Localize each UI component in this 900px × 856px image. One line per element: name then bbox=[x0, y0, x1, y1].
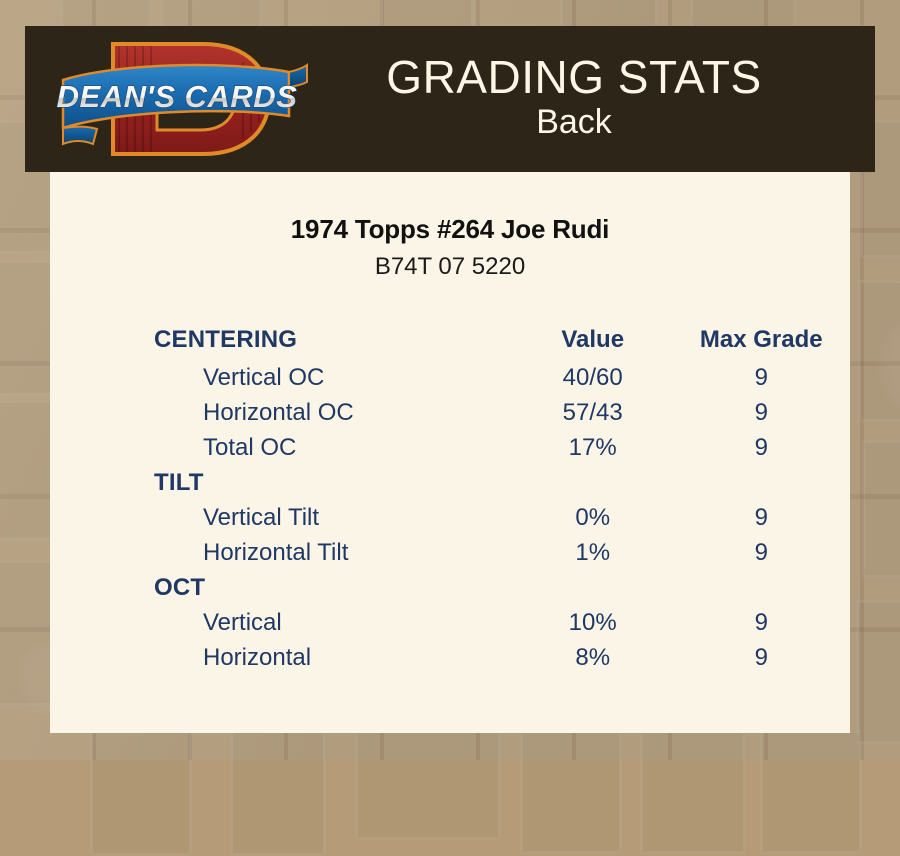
stat-max-grade: 9 bbox=[673, 360, 850, 395]
grading-stats-table: CENTERINGValueMax GradeVertical OC40/609… bbox=[50, 319, 850, 675]
stat-label: Vertical OC bbox=[50, 360, 513, 395]
table-row: Vertical OC40/609 bbox=[50, 360, 850, 395]
deans-cards-logo[interactable]: DEAN'S CARDS bbox=[53, 34, 313, 164]
header-title-block: GRADING STATS Back bbox=[313, 54, 875, 143]
stat-label: Horizontal OC bbox=[50, 395, 513, 430]
section-spacer-grade bbox=[673, 570, 850, 605]
table-row: Vertical Tilt0%9 bbox=[50, 500, 850, 535]
section-header-row: TILT bbox=[50, 465, 850, 500]
stat-max-grade: 9 bbox=[673, 605, 850, 640]
stat-label: Horizontal Tilt bbox=[50, 535, 513, 570]
stat-max-grade: 9 bbox=[673, 535, 850, 570]
content-panel: 1974 Topps #264 Joe Rudi B74T 07 5220 CE… bbox=[50, 172, 850, 733]
stat-value: 57/43 bbox=[513, 395, 673, 430]
stat-label: Horizontal bbox=[50, 640, 513, 675]
stat-label: Total OC bbox=[50, 430, 513, 465]
section-title: CENTERING bbox=[50, 319, 513, 360]
logo-wordmark: DEAN'S CARDS bbox=[57, 79, 298, 114]
column-header-max-grade: Max Grade bbox=[673, 319, 850, 360]
section-spacer-grade bbox=[673, 465, 850, 500]
stat-value: 10% bbox=[513, 605, 673, 640]
table-row: Horizontal OC57/439 bbox=[50, 395, 850, 430]
section-title: OCT bbox=[50, 570, 513, 605]
stat-max-grade: 9 bbox=[673, 395, 850, 430]
section-header-row: OCT bbox=[50, 570, 850, 605]
page-title: GRADING STATS bbox=[313, 54, 835, 101]
stat-value: 1% bbox=[513, 535, 673, 570]
section-header-row: CENTERINGValueMax Grade bbox=[50, 319, 850, 360]
stat-max-grade: 9 bbox=[673, 640, 850, 675]
column-header-value: Value bbox=[513, 319, 673, 360]
stat-value: 0% bbox=[513, 500, 673, 535]
page-header: DEAN'S CARDS GRADING STATS Back bbox=[25, 26, 875, 172]
table-row: Vertical10%9 bbox=[50, 605, 850, 640]
table-row: Total OC17%9 bbox=[50, 430, 850, 465]
stat-max-grade: 9 bbox=[673, 430, 850, 465]
page-subtitle: Back bbox=[313, 101, 835, 144]
section-spacer-value bbox=[513, 570, 673, 605]
table-row: Horizontal8%9 bbox=[50, 640, 850, 675]
table-row: Horizontal Tilt1%9 bbox=[50, 535, 850, 570]
section-title: TILT bbox=[50, 465, 513, 500]
card-serial: B74T 07 5220 bbox=[50, 253, 850, 281]
stat-label: Vertical Tilt bbox=[50, 500, 513, 535]
stat-value: 40/60 bbox=[513, 360, 673, 395]
section-spacer-value bbox=[513, 465, 673, 500]
stat-label: Vertical bbox=[50, 605, 513, 640]
stat-value: 8% bbox=[513, 640, 673, 675]
stat-value: 17% bbox=[513, 430, 673, 465]
stat-max-grade: 9 bbox=[673, 500, 850, 535]
card-title: 1974 Topps #264 Joe Rudi bbox=[50, 214, 850, 245]
